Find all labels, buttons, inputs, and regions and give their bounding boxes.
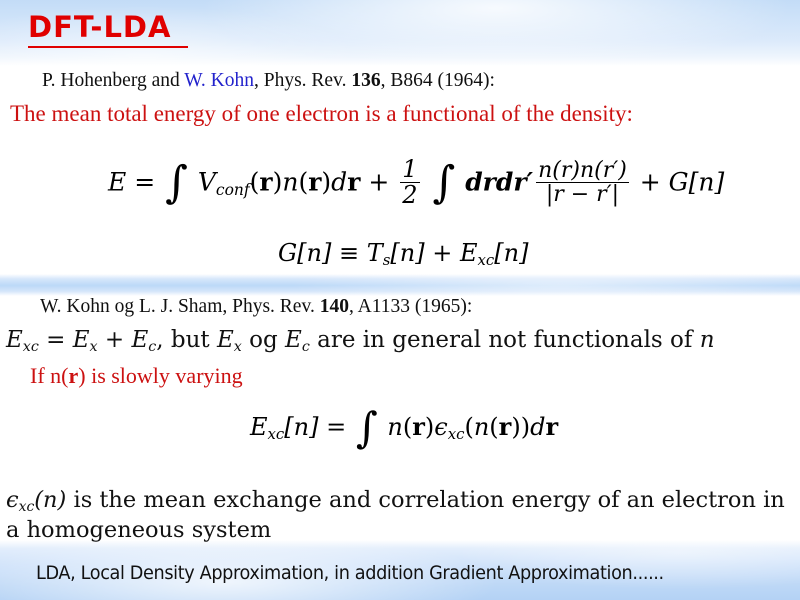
vector-r-2: r <box>308 167 321 196</box>
paragraph-epsilon-definition-line1: ϵxc(n) is the mean exchange and correlat… <box>6 487 785 515</box>
integral-icon-3: ∫ <box>354 403 380 452</box>
integral-icon: ∫ <box>163 157 190 208</box>
equation-exc-lda: Exc[n] = ∫ n(r)ϵxc(n(r))dr <box>250 415 558 442</box>
exc-symbol-sub: xc <box>23 339 39 355</box>
paragraph-epsilon-arg: (n) <box>34 487 66 513</box>
exc-text-tail: are in general not functionals of <box>310 327 700 353</box>
slide-title-block: DFT-LDA <box>28 13 188 48</box>
paren-close-1: ) <box>273 167 283 196</box>
eq-g-plus: + <box>432 239 452 267</box>
ex-symbol: E <box>73 327 90 353</box>
paren-close-4: ) <box>511 413 520 441</box>
exc-equals: = <box>46 327 65 353</box>
vector-r-5: r <box>499 412 512 441</box>
eq-g-kinetic-bracket: [n] <box>390 239 424 267</box>
citation-hohenberg-kohn: P. Hohenberg and W. Kohn, Phys. Rev. 136… <box>42 70 495 92</box>
citation2-volume: 140 <box>320 296 349 317</box>
half-numerator: 1 <box>400 157 419 182</box>
eq-exc-epsilon-sub: xc <box>448 425 465 443</box>
eq-exc-density: n <box>387 413 402 441</box>
fraction-coulomb: n(r)n(r′) |r − r′| <box>533 159 632 207</box>
paragraph-line1-text: is the mean exchange and correlation ene… <box>66 487 784 513</box>
paragraph-epsilon-sub: xc <box>19 499 35 515</box>
ex-symbol-2-sub: x <box>234 339 242 355</box>
eq-g-kinetic: T <box>367 239 383 267</box>
footer-note: LDA, Local Density Approximation, in add… <box>36 562 664 584</box>
eq-energy-density-1: n <box>282 167 298 196</box>
exc-plus: + <box>105 327 124 353</box>
vector-r-4: r <box>412 412 425 441</box>
ex-symbol-2: E <box>217 327 234 353</box>
citation1-middle: , Phys. Rev. <box>254 70 351 91</box>
exc-n-symbol: n <box>700 327 715 353</box>
slide-canvas: DFT-LDA P. Hohenberg and W. Kohn, Phys. … <box>0 0 800 600</box>
vector-r-6: r <box>545 412 558 441</box>
fraction-one-half: 1 2 <box>397 157 422 209</box>
paragraph-epsilon: ϵ <box>6 487 19 513</box>
citation1-author-highlight: W. Kohn <box>184 70 254 91</box>
paren-open-2: ( <box>298 167 308 196</box>
eq-g-exc-bracket: [n] <box>494 239 528 267</box>
ec-symbol-2-sub: c <box>302 339 310 355</box>
paren-close-2: ) <box>321 167 331 196</box>
eq-g-exc-sub: xc <box>478 251 495 269</box>
coulomb-numerator: n(r)n(r′) <box>536 159 629 182</box>
paren-open-4: ( <box>464 413 473 441</box>
ec-symbol-2: E <box>285 327 302 353</box>
vector-r-1: r <box>259 167 272 196</box>
paren-open-3: ( <box>403 413 412 441</box>
citation1-prefix: P. Hohenberg and <box>42 70 184 91</box>
paren-close-3: ) <box>425 413 434 441</box>
paragraph-epsilon-definition-line2: a homogeneous system <box>6 517 271 543</box>
citation1-volume: 136 <box>351 70 380 91</box>
eq-exc-density-2: n <box>474 413 489 441</box>
paren-open-5: ( <box>489 413 498 441</box>
exc-symbol: E <box>6 327 23 353</box>
citation1-suffix: , B864 (1964): <box>381 70 495 91</box>
equation-g-definition: G[n] ≡ Ts[n] + Exc[n] <box>278 241 528 268</box>
vector-r-3: r <box>347 167 360 196</box>
citation2-suffix: , A1133 (1965): <box>349 296 472 317</box>
eq-energy-measure-1: d <box>331 167 347 196</box>
slowly-varying-suffix: ) is slowly varying <box>78 363 242 388</box>
eq-exc-lhs-sub: xc <box>268 425 285 443</box>
eq-energy-potential-sub: conf <box>216 181 250 199</box>
eq-exc-lhs: E <box>250 413 268 441</box>
statement-exc-decomposition: Exc = Ex + Ec, but Ex og Ec are in gener… <box>6 327 715 355</box>
eq-energy-drdr: drdr′ <box>465 167 533 196</box>
eq-energy-equals: = <box>134 167 155 196</box>
paren-open-1: ( <box>250 167 260 196</box>
integral-icon-2: ∫ <box>430 157 457 208</box>
eq-exc-lhs-bracket: [n] <box>284 413 318 441</box>
eq-energy-potential: V <box>198 167 216 196</box>
eq-exc-epsilon: ϵ <box>434 413 447 441</box>
exc-text-but: , but <box>156 327 217 353</box>
page-title: DFT-LDA <box>28 13 188 42</box>
eq-g-exc: E <box>460 239 478 267</box>
half-denominator: 2 <box>400 182 419 208</box>
decorative-band-middle <box>0 274 800 296</box>
eq-energy-lhs: E <box>108 167 126 196</box>
exc-text-og: og <box>242 327 285 353</box>
eq-energy-plus-2: + <box>640 167 661 196</box>
ex-symbol-sub: x <box>90 339 98 355</box>
citation2-prefix: W. Kohn og L. J. Sham, Phys. Rev. <box>40 296 320 317</box>
eq-g-lhs: G[n] <box>278 239 331 267</box>
paren-close-5: ) <box>521 413 530 441</box>
eq-exc-measure: d <box>530 413 545 441</box>
equation-total-energy: E = ∫ Vconf(r)n(r)dr + 1 2 ∫ drdr′ n(r)n… <box>108 158 724 210</box>
coulomb-denominator: |r − r′| <box>536 182 629 206</box>
ec-symbol: E <box>131 327 148 353</box>
vector-r-slowly-varying: r <box>68 363 78 388</box>
slowly-varying-prefix: If n( <box>30 363 68 388</box>
statement-energy-functional: The mean total energy of one electron is… <box>10 101 633 127</box>
eq-energy-plus-1: + <box>368 167 389 196</box>
eq-g-equiv: ≡ <box>339 239 359 267</box>
eq-energy-g-functional: G[n] <box>669 167 725 196</box>
eq-exc-equals: = <box>326 413 346 441</box>
title-underline <box>28 46 188 48</box>
statement-slowly-varying: If n(r) is slowly varying <box>30 363 243 389</box>
citation-kohn-sham: W. Kohn og L. J. Sham, Phys. Rev. 140, A… <box>40 296 472 318</box>
